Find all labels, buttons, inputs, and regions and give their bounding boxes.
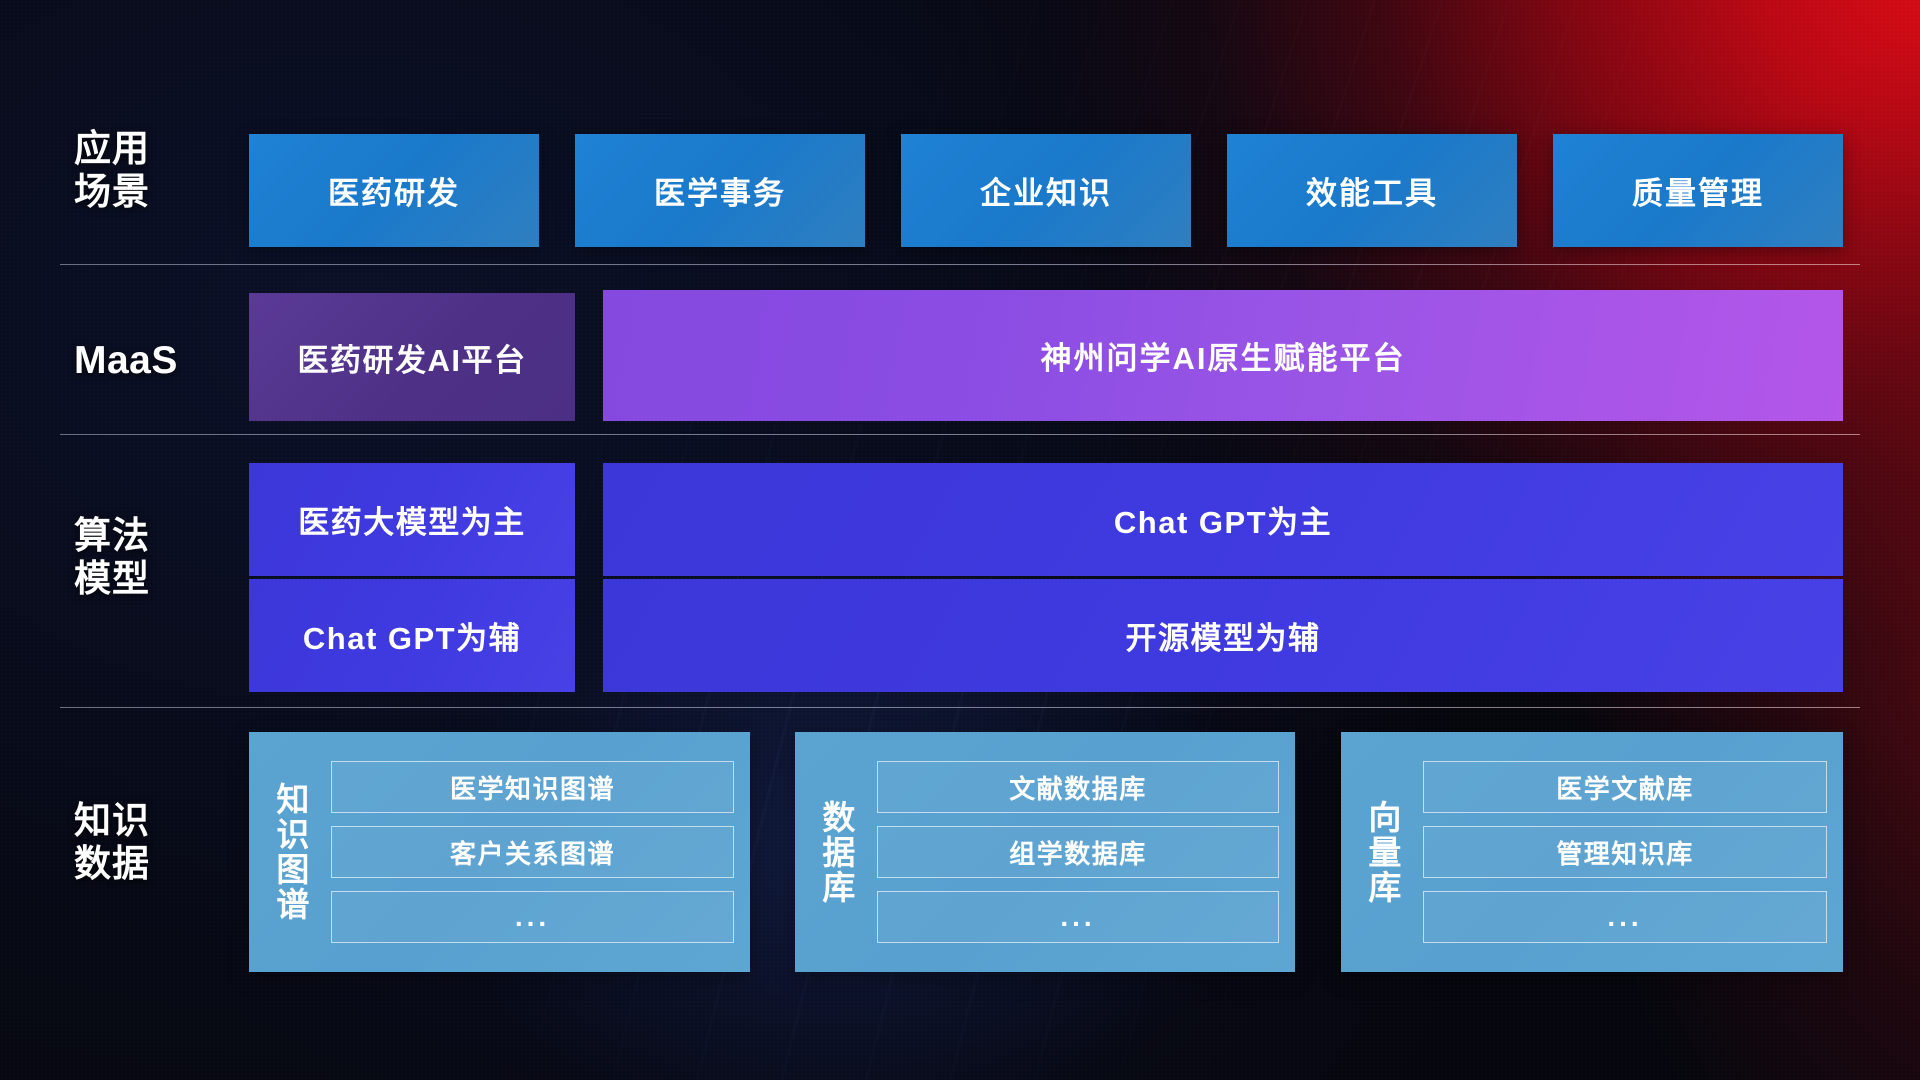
maas-right-tile-label: 神州问学AI原生赋能平台 <box>1041 333 1406 378</box>
knowledge-panel-2-item-3[interactable]: ... <box>877 891 1279 943</box>
app-tile-2-label: 医学事务 <box>654 168 786 213</box>
knowledge-panel-1-item-1-label: 医学知识图谱 <box>450 769 615 806</box>
diagram-canvas: 应用 场景 医药研发 医学事务 企业知识 效能工具 质量管理 MaaS 医药研发… <box>0 0 1920 1080</box>
app-tile-1[interactable]: 医药研发 <box>249 134 539 247</box>
algo-right-tile-2[interactable]: 开源模型为辅 <box>603 579 1843 692</box>
app-tile-5-label: 质量管理 <box>1632 168 1764 213</box>
knowledge-panel-1-item-2[interactable]: 客户关系图谱 <box>331 826 734 878</box>
row-label-knowledge: 知识 数据 <box>74 800 194 886</box>
knowledge-panel-2: 数据库 文献数据库 组学数据库 ... <box>795 732 1295 972</box>
algo-right-tile-1[interactable]: Chat GPT为主 <box>603 463 1843 576</box>
knowledge-panel-1: 知识图谱 医学知识图谱 客户关系图谱 ... <box>249 732 750 972</box>
divider-maas-algorithm <box>60 434 1860 435</box>
knowledge-panel-2-item-2[interactable]: 组学数据库 <box>877 826 1279 878</box>
knowledge-panel-3: 向量库 医学文献库 管理知识库 ... <box>1341 732 1843 972</box>
knowledge-panel-3-item-3[interactable]: ... <box>1423 891 1827 943</box>
knowledge-panel-2-items: 文献数据库 组学数据库 ... <box>877 746 1279 958</box>
algo-left-tile-2-label: Chat GPT为辅 <box>303 613 521 658</box>
knowledge-panel-3-item-3-label: ... <box>1607 901 1642 933</box>
knowledge-panel-3-item-2[interactable]: 管理知识库 <box>1423 826 1827 878</box>
algo-right-tile-2-label: 开源模型为辅 <box>1126 613 1321 658</box>
knowledge-panel-3-item-2-label: 管理知识库 <box>1556 834 1694 871</box>
algo-right-tile-1-label: Chat GPT为主 <box>1114 497 1332 542</box>
maas-right-tile[interactable]: 神州问学AI原生赋能平台 <box>603 290 1843 421</box>
divider-application-maas <box>60 264 1860 265</box>
algo-left-tile-2[interactable]: Chat GPT为辅 <box>249 579 575 692</box>
app-tile-1-label: 医药研发 <box>328 168 460 213</box>
knowledge-panel-1-items: 医学知识图谱 客户关系图谱 ... <box>331 746 734 958</box>
knowledge-panel-1-item-1[interactable]: 医学知识图谱 <box>331 761 734 813</box>
row-label-maas: MaaS <box>74 338 194 383</box>
maas-left-tile[interactable]: 医药研发AI平台 <box>249 293 575 421</box>
algo-left-tile-1[interactable]: 医药大模型为主 <box>249 463 575 576</box>
architecture-diagram: 应用 场景 医药研发 医学事务 企业知识 效能工具 质量管理 MaaS 医药研发… <box>0 0 1920 1080</box>
knowledge-panel-3-category: 向量库 <box>1355 800 1409 905</box>
knowledge-panel-1-item-3-label: ... <box>515 901 550 933</box>
knowledge-panel-2-category: 数据库 <box>809 800 863 905</box>
knowledge-panel-3-item-1[interactable]: 医学文献库 <box>1423 761 1827 813</box>
knowledge-panel-1-category: 知识图谱 <box>263 782 317 922</box>
app-tile-5[interactable]: 质量管理 <box>1553 134 1843 247</box>
divider-algorithm-knowledge <box>60 707 1860 708</box>
app-tile-2[interactable]: 医学事务 <box>575 134 865 247</box>
app-tile-4-label: 效能工具 <box>1306 168 1438 213</box>
knowledge-panel-3-items: 医学文献库 管理知识库 ... <box>1423 746 1827 958</box>
algo-left-tile-1-label: 医药大模型为主 <box>298 497 526 542</box>
app-tile-3[interactable]: 企业知识 <box>901 134 1191 247</box>
app-tile-4[interactable]: 效能工具 <box>1227 134 1517 247</box>
app-tile-3-label: 企业知识 <box>980 168 1112 213</box>
row-label-application: 应用 场景 <box>74 128 194 214</box>
maas-left-tile-label: 医药研发AI平台 <box>298 335 527 380</box>
knowledge-panel-2-item-2-label: 组学数据库 <box>1009 834 1147 871</box>
knowledge-panel-2-item-1[interactable]: 文献数据库 <box>877 761 1279 813</box>
knowledge-panel-3-item-1-label: 医学文献库 <box>1556 769 1694 806</box>
knowledge-panel-1-item-3[interactable]: ... <box>331 891 734 943</box>
row-label-algorithm: 算法 模型 <box>74 515 194 601</box>
knowledge-panel-1-item-2-label: 客户关系图谱 <box>450 834 615 871</box>
knowledge-panel-2-item-1-label: 文献数据库 <box>1009 769 1147 806</box>
knowledge-panel-2-item-3-label: ... <box>1060 901 1095 933</box>
